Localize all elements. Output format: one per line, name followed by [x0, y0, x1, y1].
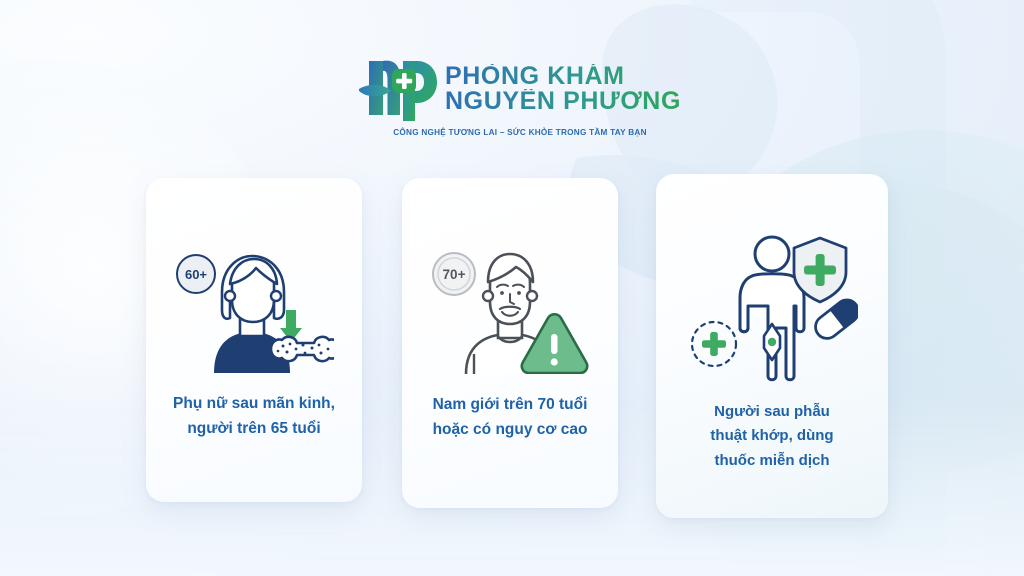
risk-card-women[interactable]: 60+: [146, 178, 362, 502]
card-2-caption: Nam giới trên 70 tuổi hoặc có nguy cơ ca…: [419, 392, 602, 442]
post-joint-surgery-shield-pill-icon: [686, 232, 858, 382]
risk-card-post-surgery[interactable]: Người sau phẫu thuật khớp, dùng thuốc mi…: [656, 174, 888, 518]
np-monogram-logo-icon: [359, 53, 437, 125]
card-1-artwork: 60+: [174, 248, 334, 373]
card-1-caption: Phụ nữ sau mãn kinh, người trên 65 tuổi: [159, 391, 349, 441]
woman-osteoporosis-bone-icon: 60+: [174, 248, 334, 373]
logo-wordmark: PHÒNG KHÁM NGUYÊN PHƯƠNG: [445, 64, 681, 114]
logo-tagline: CÔNG NGHỆ TƯƠNG LAI – SỨC KHỎE TRONG TẦM…: [393, 128, 647, 137]
age-badge-60-plus: 60+: [185, 267, 207, 282]
elderly-man-warning-icon: 70+: [430, 246, 590, 374]
logo-name-line-1: PHÒNG KHÁM: [445, 64, 681, 89]
logo-name-line-2: NGUYÊN PHƯƠNG: [445, 89, 681, 114]
card-3-caption-line-2: thuật khớp, dùng: [710, 424, 833, 448]
clinic-logo: PHÒNG KHÁM NGUYÊN PHƯƠNG CÔNG NGHỆ TƯƠNG…: [390, 52, 650, 148]
card-1-caption-line-1: Phụ nữ sau mãn kinh,: [173, 391, 335, 416]
slide-canvas: PHÒNG KHÁM NGUYÊN PHƯƠNG CÔNG NGHỆ TƯƠNG…: [0, 0, 1024, 576]
card-1-caption-line-2: người trên 65 tuổi: [173, 416, 335, 441]
dashed-circle-cross-icon: [692, 322, 736, 366]
logo-top-row: PHÒNG KHÁM NGUYÊN PHƯƠNG: [359, 52, 681, 126]
risk-card-men[interactable]: 70+: [402, 178, 618, 508]
age-badge-70-plus: 70+: [443, 267, 466, 282]
card-2-artwork: 70+: [430, 246, 590, 374]
card-3-caption-line-3: thuốc miễn dịch: [710, 449, 833, 473]
porous-bone-icon: [271, 337, 334, 361]
card-3-artwork: [686, 232, 858, 382]
card-3-caption: Người sau phẫu thuật khớp, dùng thuốc mi…: [696, 400, 847, 473]
card-2-caption-line-1: Nam giới trên 70 tuổi: [433, 392, 588, 417]
card-3-caption-line-1: Người sau phẫu: [710, 400, 833, 424]
card-2-caption-line-2: hoặc có nguy cơ cao: [433, 417, 588, 442]
